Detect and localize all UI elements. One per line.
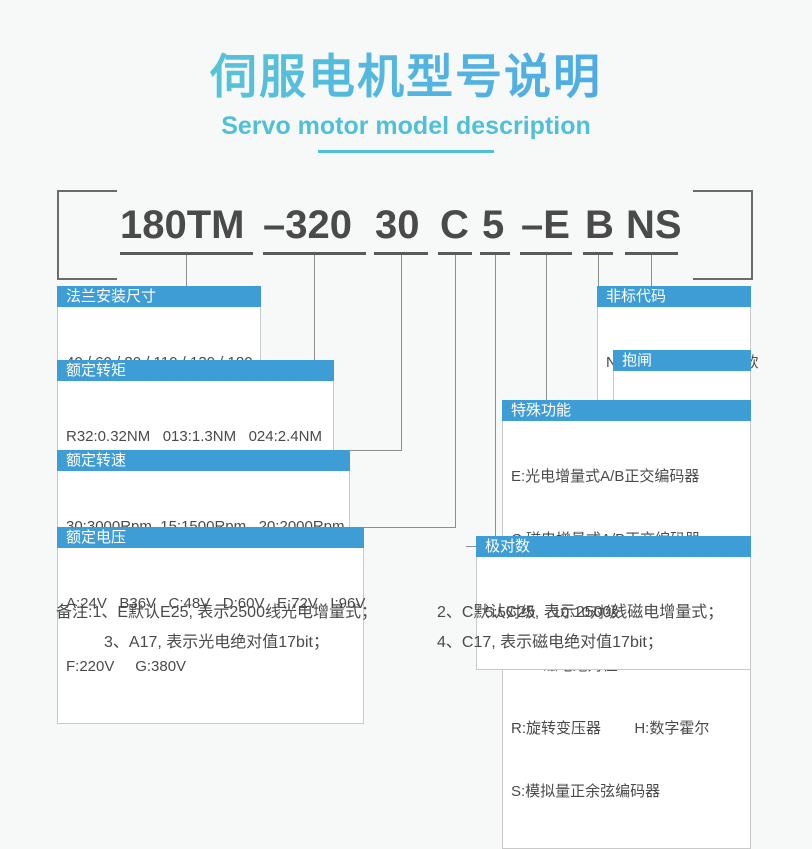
box-torque-title: 额定转矩 [57,360,334,381]
box-brake-title: 抱闸 [613,350,751,371]
note-3: 3、A17, 表示光电绝对值17bit； [104,628,329,658]
model-code-bracket-left [57,190,117,280]
leader-pole-pairs-v [495,255,496,546]
note-4: 4、C17, 表示磁电绝对值17bit； [437,628,663,658]
leader-flange [186,255,187,286]
box-special-function-title: 特殊功能 [502,400,751,421]
box-special-function-line-5: R:旋转变压器 H:数字霍尔 [511,718,742,739]
code-segment-speed: 30 [375,203,420,248]
title-underline-rule [318,150,494,153]
box-flange-title: 法兰安装尺寸 [57,286,261,307]
page-title-cn: 伺服电机型号说明 [0,46,812,108]
leader-voltage-h [364,527,456,528]
page-root: 伺服电机型号说明 Servo motor model description 1… [0,0,812,687]
leader-torque [314,255,315,360]
code-segment-flange: 180TM [120,203,245,248]
leader-voltage-v [455,255,456,527]
box-special-function-line-1: E:光电增量式A/B正交编码器 [511,466,742,487]
page-title-en: Servo motor model description [0,112,812,141]
leader-special-function [546,255,547,400]
box-voltage-line-2: F:220V G:380V [66,656,355,677]
box-torque-line-1: R32:0.32NM 013:1.3NM 024:2.4NM [66,426,325,447]
code-segment-brake: B [585,203,614,248]
leader-speed-h [350,450,402,451]
code-segment-nonstandard: NS [626,203,682,248]
code-segment-voltage: C [440,203,469,248]
note-2: 2、C默认C25, 表示2500线磁电增量式； [437,598,723,628]
box-nonstandard-title: 非标代码 [597,286,751,307]
code-segment-torque: –320 [263,203,352,248]
model-code-row: 180TM –320 30 C 5 –E B NS [110,203,710,251]
leader-nonstandard [651,255,652,286]
leader-speed-v [401,255,402,450]
box-voltage-title: 额定电压 [57,527,364,548]
code-segment-special-function: –E [521,203,570,248]
box-pole-pairs-title: 极对数 [476,536,751,557]
box-special-function-line-6: S:模拟量正余弦编码器 [511,781,742,802]
code-segment-pole-pairs: 5 [482,203,504,248]
note-1: 备注:1、E默认E25, 表示2500线光电增量式； [56,598,377,628]
box-speed-title: 额定转速 [57,450,350,471]
